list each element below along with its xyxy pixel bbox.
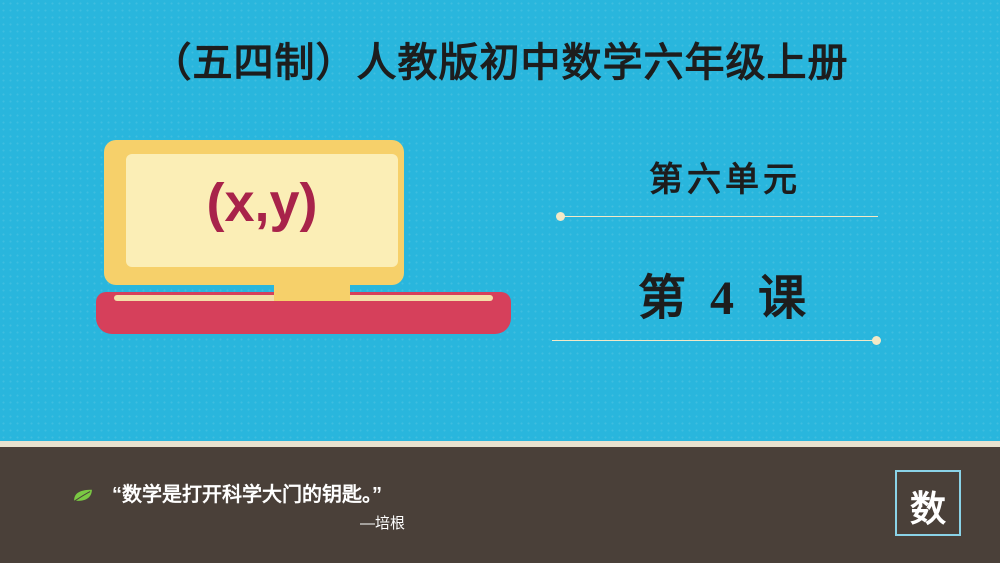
slide: （五四制）人教版初中数学六年级上册 (x,y) 第六单元 第 4 课 “数学是打… xyxy=(0,0,1000,563)
laptop-lid: (x,y) xyxy=(104,140,404,285)
laptop-screen-text: (x,y) xyxy=(126,172,398,234)
laptop-icon: (x,y) xyxy=(96,140,426,340)
divider-bottom xyxy=(552,340,878,341)
footer-quote: “数学是打开科学大门的钥匙。” xyxy=(112,478,382,507)
divider-dot-right xyxy=(872,336,881,345)
lesson-label: 第 4 课 xyxy=(545,258,905,328)
leaf-icon xyxy=(72,488,94,504)
unit-label: 第六单元 xyxy=(545,152,905,201)
footer-quote-author: —培根 xyxy=(360,512,405,533)
page-title: （五四制）人教版初中数学六年级上册 xyxy=(0,30,1000,88)
logo-badge: 数 xyxy=(895,470,961,536)
divider-dot-left xyxy=(556,212,565,221)
laptop-screen: (x,y) xyxy=(126,154,398,267)
logo-text: 数 xyxy=(897,480,959,532)
divider-top xyxy=(560,216,878,217)
